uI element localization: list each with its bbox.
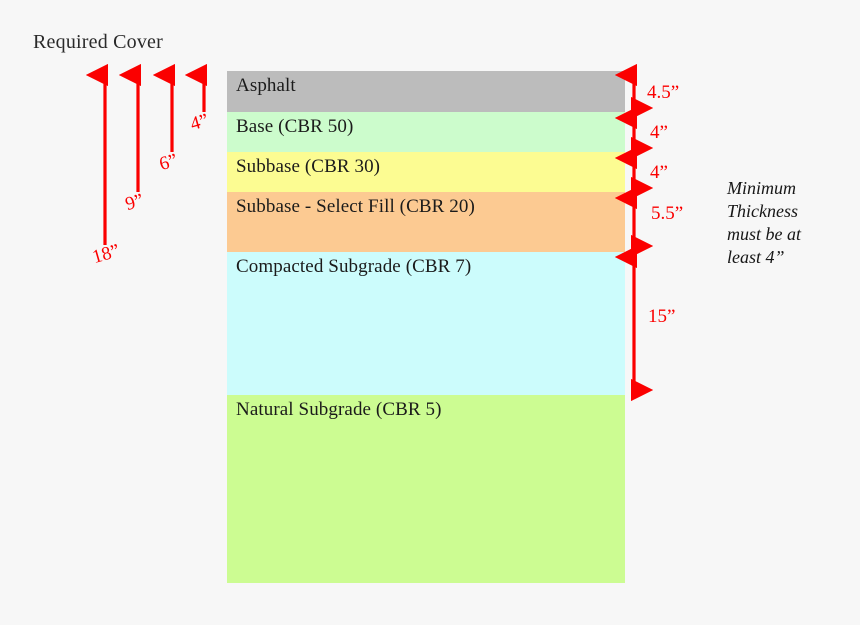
cover-dimension-label-cover-18: 18” bbox=[90, 240, 122, 269]
thickness-dimension-label-thickness-subbase: 4” bbox=[650, 162, 668, 184]
pavement-layer-label: Base (CBR 50) bbox=[236, 116, 353, 138]
page-title: Required Cover bbox=[33, 31, 163, 54]
minimum-note-line: least 4” bbox=[727, 246, 847, 269]
pavement-layer-label: Subbase - Select Fill (CBR 20) bbox=[236, 196, 475, 218]
minimum-note-line: must be at bbox=[727, 223, 847, 246]
pavement-layer-label: Compacted Subgrade (CBR 7) bbox=[236, 256, 471, 278]
pavement-layer-label: Subbase (CBR 30) bbox=[236, 156, 380, 178]
pavement-layer-stack: AsphaltBase (CBR 50)Subbase (CBR 30)Subb… bbox=[227, 71, 625, 583]
pavement-layer-subbase: Subbase (CBR 30) bbox=[227, 152, 625, 192]
pavement-layer-subbase-select-fill: Subbase - Select Fill (CBR 20) bbox=[227, 192, 625, 252]
pavement-layer-compacted-subgrade: Compacted Subgrade (CBR 7) bbox=[227, 252, 625, 395]
cover-dimension-label-cover-6: 6” bbox=[157, 150, 180, 176]
thickness-dimension-label-thickness-asphalt: 4.5” bbox=[647, 82, 679, 104]
pavement-layer-asphalt: Asphalt bbox=[227, 71, 625, 112]
cover-dimension-label-cover-4: 4” bbox=[188, 110, 211, 136]
minimum-note-line: Minimum bbox=[727, 177, 847, 200]
cover-dimension-label-cover-9: 9” bbox=[123, 190, 146, 216]
pavement-cross-section-diagram: Required Cover AsphaltBase (CBR 50)Subba… bbox=[0, 0, 860, 625]
minimum-note-line: Thickness bbox=[727, 200, 847, 223]
pavement-layer-label: Asphalt bbox=[236, 75, 296, 97]
thickness-dimension-label-thickness-select-fill: 5.5” bbox=[651, 203, 683, 225]
pavement-layer-base: Base (CBR 50) bbox=[227, 112, 625, 152]
pavement-layer-natural-subgrade: Natural Subgrade (CBR 5) bbox=[227, 395, 625, 583]
minimum-thickness-note: MinimumThicknessmust be atleast 4” bbox=[727, 177, 847, 269]
thickness-dimension-label-thickness-compacted: 15” bbox=[648, 306, 675, 328]
required-cover-arrow-group bbox=[105, 75, 204, 245]
thickness-dimension-label-thickness-base: 4” bbox=[650, 122, 668, 144]
pavement-layer-label: Natural Subgrade (CBR 5) bbox=[236, 399, 442, 421]
